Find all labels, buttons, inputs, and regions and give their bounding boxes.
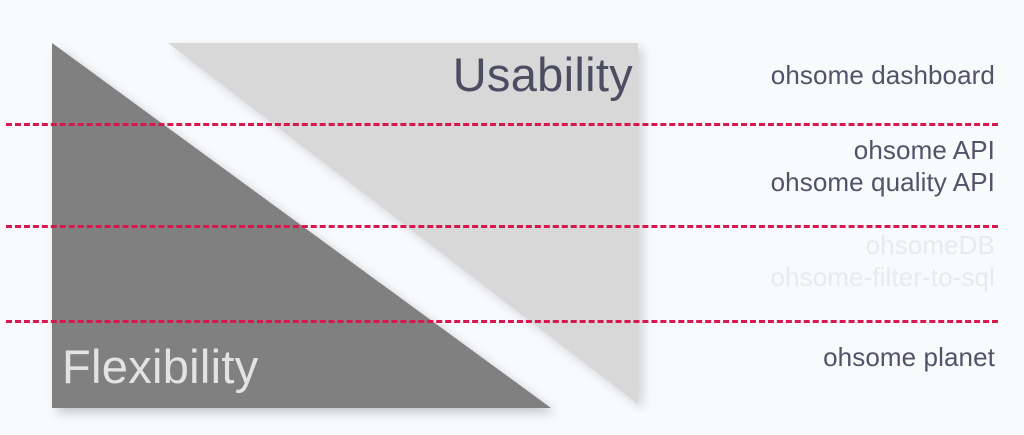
label-ohsome-filter-to-sql: ohsome-filter-to-sql xyxy=(770,262,995,294)
tier-divider-2 xyxy=(6,225,998,228)
tier-label-planet[interactable]: ohsome planet xyxy=(823,342,995,374)
flexibility-axis-label: Flexibility xyxy=(62,339,259,394)
tier-label-dashboard[interactable]: ohsome dashboard xyxy=(771,60,995,92)
label-ohsome-quality-api: ohsome quality API xyxy=(771,167,995,199)
tier-divider-1 xyxy=(6,123,998,126)
label-ohsomedb: ohsomeDB xyxy=(770,230,995,262)
tier-label-database[interactable]: ohsomeDB ohsome-filter-to-sql xyxy=(770,230,995,294)
tier-label-apis[interactable]: ohsome API ohsome quality API xyxy=(771,135,995,199)
usability-axis-label: Usability xyxy=(453,47,633,102)
label-ohsome-planet: ohsome planet xyxy=(823,342,995,374)
tier-divider-3 xyxy=(6,320,998,323)
label-ohsome-api: ohsome API xyxy=(771,135,995,167)
label-ohsome-dashboard: ohsome dashboard xyxy=(771,60,995,92)
product-label-column: ohsome dashboard ohsome API ohsome quali… xyxy=(595,0,995,430)
diagram-canvas: Usability Flexibility ohsome dashboard o… xyxy=(0,0,1024,430)
